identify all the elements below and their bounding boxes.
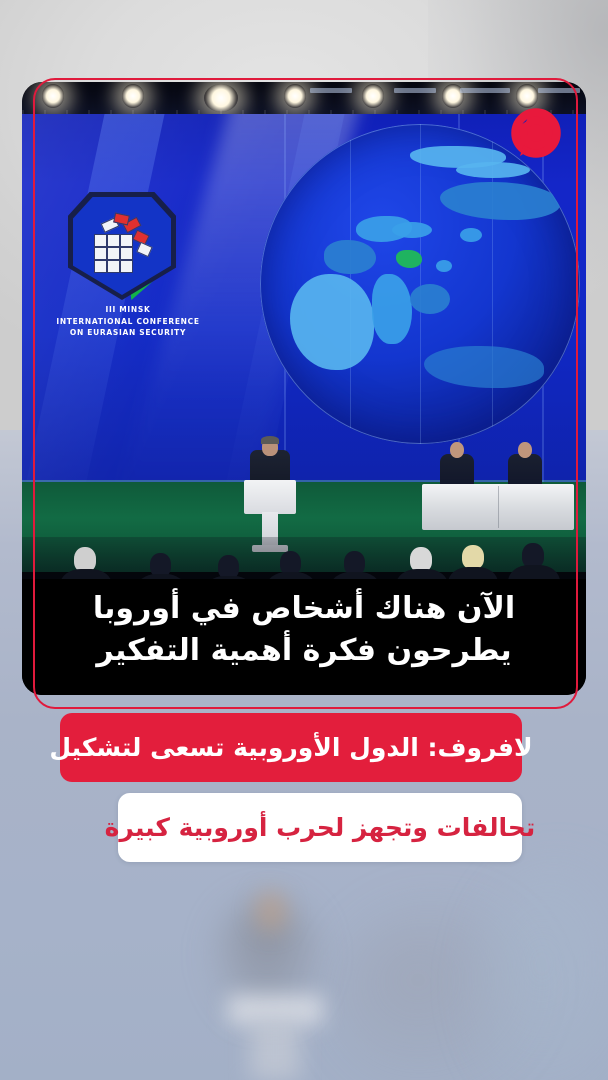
story-screen: III MINSK INTERNATIONAL CONFERENCE ON EU… xyxy=(0,0,608,1080)
landmass-highlight-belarus xyxy=(396,250,422,268)
landmass xyxy=(324,240,376,274)
video-subtitle: الآن هناك أشخاص في أوروبا يطرحون فكرة أه… xyxy=(22,588,586,673)
ceiling-banner xyxy=(310,88,352,93)
cube-tile xyxy=(94,260,107,273)
headline-banner-white: تحالفات وتجهز لحرب أوروبية كبيرة xyxy=(118,793,522,862)
stage-light xyxy=(516,84,538,108)
rt-arabic-logo-icon xyxy=(510,108,562,160)
panelist-head xyxy=(518,442,532,458)
panelist-head xyxy=(450,442,464,458)
subtitle-line-1: الآن هناك أشخاص في أوروبا xyxy=(22,588,586,631)
globe-graphic xyxy=(260,124,580,444)
headline-line-1: لافروف: الدول الأوروبية تسعى لتشكيل xyxy=(49,733,532,762)
cube-tile xyxy=(120,234,133,247)
stage-light xyxy=(284,84,306,108)
headline-line-2: تحالفات وتجهز لحرب أوروبية كبيرة xyxy=(105,813,536,842)
cube-tile xyxy=(107,234,120,247)
ceiling-banner xyxy=(394,88,436,93)
conference-logo: III MINSK INTERNATIONAL CONFERENCE ON EU… xyxy=(68,192,186,320)
conference-logo-line3: ON EURASIAN SECURITY xyxy=(38,327,218,339)
led-backdrop-wall: III MINSK INTERNATIONAL CONFERENCE ON EU… xyxy=(22,114,586,504)
landmass xyxy=(410,284,450,314)
headline-banner-red: لافروف: الدول الأوروبية تسعى لتشكيل xyxy=(60,713,522,782)
backdrop-speaker-head xyxy=(255,890,287,932)
landmass xyxy=(460,228,482,242)
speaker-hair xyxy=(261,436,279,444)
ceiling-banner xyxy=(538,88,580,93)
backdrop-podium-stem xyxy=(250,1020,300,1080)
subtitle-line-2: يطرحون فكرة أهمية التفكير xyxy=(22,630,586,673)
audience-head xyxy=(462,545,484,569)
conference-logo-line1: III MINSK xyxy=(38,304,218,316)
ceiling-banner xyxy=(460,88,510,93)
panelist-figure xyxy=(508,454,542,488)
cube-tile xyxy=(120,247,133,260)
conference-logo-line2: INTERNATIONAL CONFERENCE xyxy=(38,316,218,328)
stage-light xyxy=(204,84,238,112)
cube-tile xyxy=(107,260,120,273)
stage-light xyxy=(362,84,384,108)
landmass xyxy=(436,260,452,272)
landmass xyxy=(392,222,432,238)
panel-table-seam xyxy=(498,486,499,528)
stage-light xyxy=(122,84,144,108)
cube-tile xyxy=(94,247,107,260)
cube-tile xyxy=(107,247,120,260)
panelist-figure xyxy=(440,454,474,488)
podium xyxy=(244,480,296,514)
video-player[interactable]: III MINSK INTERNATIONAL CONFERENCE ON EU… xyxy=(22,82,586,695)
cube-tile xyxy=(120,260,133,273)
conference-logo-caption: III MINSK INTERNATIONAL CONFERENCE ON EU… xyxy=(38,304,218,339)
cube-tile xyxy=(94,234,107,247)
stage-light xyxy=(42,84,64,108)
globe-meridian xyxy=(420,124,421,444)
landmass xyxy=(456,162,530,178)
